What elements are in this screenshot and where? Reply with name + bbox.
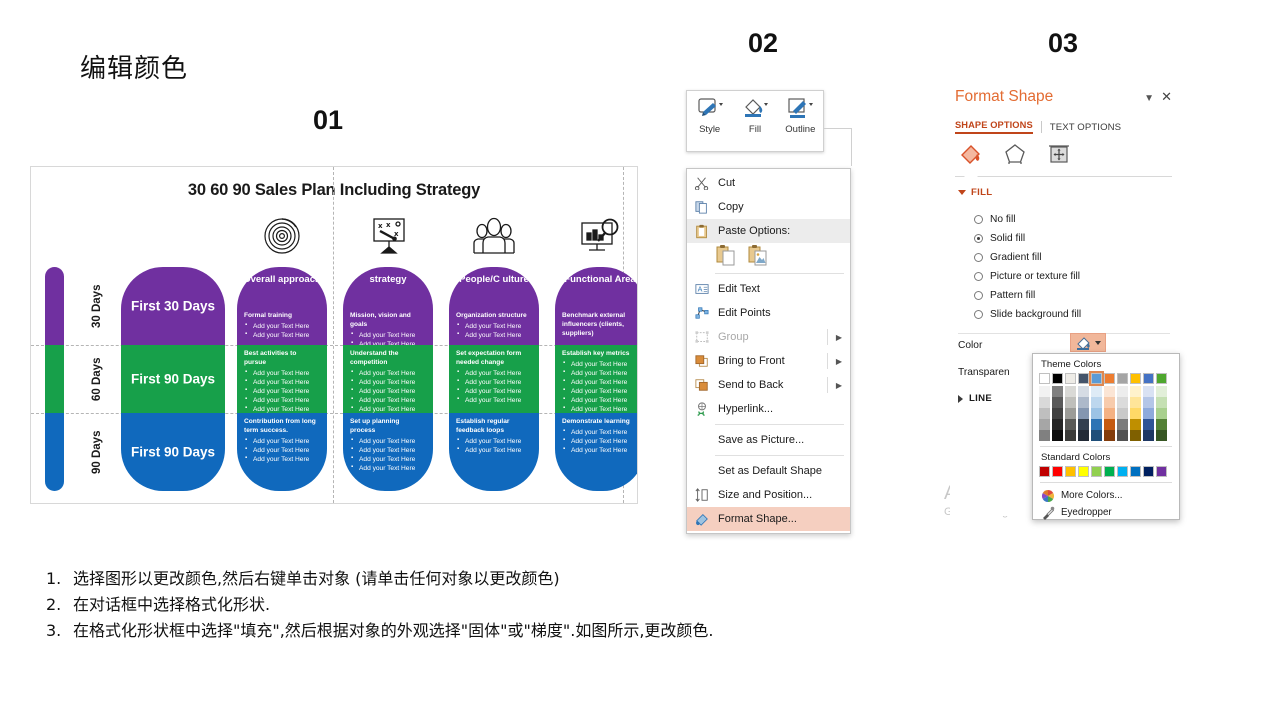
theme-color-shade-swatch[interactable] [1091, 419, 1102, 430]
radio-solid-fill[interactable] [974, 234, 983, 243]
column-4-row-90-list: Add your Text Here Add your Text Here Ad… [555, 428, 638, 455]
triangle-down-icon [958, 190, 966, 195]
theme-color-shade-swatch[interactable] [1156, 408, 1167, 419]
theme-color-shade-swatch[interactable] [1143, 386, 1154, 397]
list-item: Add your Text Here [253, 322, 321, 331]
edit-points-icon [691, 304, 713, 322]
hero-label-60: First 90 Days [121, 372, 225, 387]
theme-color-swatch[interactable] [1052, 373, 1063, 384]
context-menu-item-format-shape[interactable]: Format Shape... [687, 507, 850, 531]
list-item: Add your Text Here [253, 437, 321, 446]
theme-color-shade-swatch[interactable] [1104, 408, 1115, 419]
column-4-segment-60[interactable]: Establish key metrics Add your Text Here… [555, 345, 638, 413]
more-colors-label: More Colors... [1061, 490, 1123, 501]
list-item: Add your Text Here [465, 322, 533, 331]
column-1-row-30-head: Formal training [237, 307, 327, 322]
theme-color-column [1091, 373, 1102, 441]
timeline-bar-90 [45, 413, 64, 491]
theme-color-shade-swatch[interactable] [1039, 419, 1050, 430]
column-2-heading: strategy [343, 274, 433, 287]
context-menu-label: Copy [713, 201, 844, 213]
infographic-column-hero: First 30 Days First 90 Days First 90 Day… [121, 167, 225, 503]
list-item: Add your Text Here [465, 446, 533, 455]
strategy-board-icon: xxx [362, 213, 414, 259]
standard-color-swatch[interactable] [1156, 466, 1167, 477]
theme-color-shade-swatch[interactable] [1143, 408, 1154, 419]
theme-color-shade-swatch[interactable] [1052, 408, 1063, 419]
scissors-icon [691, 174, 713, 192]
list-item: Add your Text Here [253, 446, 321, 455]
column-2-row-30-head: Mission, vision and goals [343, 307, 433, 331]
theme-color-shade-swatch[interactable] [1117, 397, 1128, 408]
theme-color-shade-swatch[interactable] [1078, 430, 1089, 441]
tab-divider [1041, 121, 1042, 133]
column-2-segment-30[interactable]: strategy Mission, vision and goals Add y… [343, 267, 433, 345]
standard-colors-header: Standard Colors [1039, 451, 1173, 466]
context-menu-item-save-as-picture[interactable]: Save as Picture... [687, 428, 850, 452]
submenu-arrow-icon: ▶ [836, 381, 844, 390]
style-label: Style [699, 124, 720, 135]
theme-color-shade-swatch[interactable] [1117, 386, 1128, 397]
standard-color-swatch[interactable] [1091, 466, 1102, 477]
hero-label-90: First 90 Days [121, 445, 225, 460]
column-1-segment-90[interactable]: Contribution from long term success. Add… [237, 413, 327, 491]
theme-color-shade-swatch[interactable] [1130, 419, 1141, 430]
instruction-index: 1. [46, 566, 64, 592]
tab-text-options[interactable]: TEXT OPTIONS [1050, 122, 1121, 133]
list-item: Add your Text Here [571, 396, 638, 405]
paste-picture-icon[interactable] [747, 244, 769, 266]
context-menu-item-size-and-position[interactable]: Size and Position... [687, 483, 850, 507]
outline-label: Outline [785, 124, 815, 135]
list-item: Add your Text Here [253, 331, 321, 340]
eyedropper-option[interactable]: Eyedropper [1039, 504, 1173, 521]
shape-style-icon [695, 96, 725, 122]
color-picker-button[interactable] [1070, 333, 1106, 352]
theme-color-swatch[interactable] [1104, 373, 1115, 384]
theme-color-shade-swatch[interactable] [1143, 430, 1154, 441]
theme-color-shade-swatch[interactable] [1117, 430, 1128, 441]
list-item: Add your Text Here [571, 360, 638, 369]
day-label-90: 90 Days [77, 413, 117, 491]
day-label-30: 30 Days [77, 267, 117, 345]
shape-context-menu: Cut Copy Paste Options: [686, 168, 851, 534]
column-2-row-60-head: Understand the competition [343, 345, 433, 369]
radio-no-fill[interactable] [974, 215, 983, 224]
theme-color-shade-swatch[interactable] [1091, 408, 1102, 419]
edit-text-icon: A [691, 280, 713, 298]
clipboard-icon [691, 222, 713, 240]
fill-option-no-fill[interactable]: No fill [974, 210, 1174, 229]
guide-dash-vertical-1 [333, 167, 334, 503]
infographic-column-4: Functional Area Benchmark external influ… [555, 167, 638, 503]
triangle-right-icon [958, 395, 963, 403]
line-section-header[interactable]: LINE [958, 393, 992, 404]
column-4-row-90-head: Demonstrate learning [555, 413, 638, 428]
pencil-outline-icon [785, 96, 815, 122]
theme-color-swatch[interactable] [1117, 373, 1128, 384]
hero-segment-90[interactable]: First 90 Days [121, 413, 225, 491]
theme-color-shade-swatch[interactable] [1156, 397, 1167, 408]
context-menu-label: Cut [713, 177, 844, 189]
theme-color-shade-swatch[interactable] [1156, 419, 1167, 430]
list-item: Add your Text Here [359, 396, 427, 405]
column-2-row-90-head: Set up planning process [343, 413, 433, 437]
column-1-heading: Overall approach [237, 274, 327, 287]
fill-option-slide-background-fill[interactable]: Slide background fill [974, 305, 1174, 324]
list-item: Add your Text Here [571, 387, 638, 396]
list-item: Add your Text Here [359, 331, 427, 340]
context-menu-item-group: Group ▶ [687, 325, 850, 349]
list-item: Add your Text Here [359, 378, 427, 387]
context-menu-separator-2 [715, 424, 844, 425]
theme-colors-grid [1039, 373, 1173, 441]
theme-color-shade-swatch[interactable] [1039, 397, 1050, 408]
list-item: Add your Text Here [253, 378, 321, 387]
format-shape-tabs: SHAPE OPTIONS TEXT OPTIONS [955, 120, 1121, 134]
theme-color-shade-swatch[interactable] [1130, 430, 1141, 441]
theme-color-shade-swatch[interactable] [1091, 397, 1102, 408]
theme-color-shade-swatch[interactable] [1065, 386, 1076, 397]
theme-color-swatch[interactable] [1078, 373, 1089, 384]
column-3-row-60-list: Add your Text Here Add your Text Here Ad… [449, 369, 539, 405]
pane-rule [955, 176, 1172, 177]
theme-color-shade-swatch[interactable] [1065, 430, 1076, 441]
transparency-label: Transparen [958, 367, 1010, 378]
theme-color-shade-swatch[interactable] [1104, 397, 1115, 408]
theme-color-column [1039, 373, 1050, 441]
style-button[interactable]: Style [687, 96, 732, 135]
column-1-row-90-head: Contribution from long term success. [237, 413, 327, 437]
theme-color-shade-swatch[interactable] [1078, 386, 1089, 397]
color-row: Color [958, 340, 1172, 351]
hero-segment-30[interactable]: First 30 Days [121, 267, 225, 345]
picker-divider-1 [1040, 446, 1172, 447]
radio-slide-background-fill[interactable] [974, 310, 983, 319]
context-menu-item-edit-text[interactable]: A Edit Text [687, 277, 850, 301]
effects-pentagon-icon[interactable] [1002, 142, 1028, 166]
theme-color-shade-swatch[interactable] [1130, 408, 1141, 419]
step-marker-02: 02 [748, 28, 778, 59]
theme-color-shade-swatch[interactable] [1039, 408, 1050, 419]
infographic-column-3: People/C ulture Organization structure A… [449, 167, 539, 503]
context-menu-item-cut[interactable]: Cut [687, 171, 850, 195]
fill-label: Fill [749, 124, 761, 135]
toolbar-connector-horizontal [824, 128, 852, 129]
column-3-row-90-head: Establish regular feedback loops [449, 413, 539, 437]
theme-color-shade-swatch[interactable] [1143, 419, 1154, 430]
fill-section-label: FILL [971, 187, 992, 198]
column-3-segment-60[interactable]: Set expectation form needed change Add y… [449, 345, 539, 413]
theme-color-swatch[interactable] [1156, 373, 1167, 384]
day-label-60: 60 Days [77, 345, 117, 413]
bring-to-front-icon [691, 352, 713, 370]
context-menu-label: Edit Points [713, 307, 844, 319]
fill-option-gradient-fill[interactable]: Gradient fill [974, 248, 1174, 267]
fill-option-label: Pattern fill [990, 290, 1035, 301]
theme-color-shade-swatch[interactable] [1130, 386, 1141, 397]
size-position-icon [691, 486, 713, 504]
send-to-back-icon [691, 376, 713, 394]
theme-color-shade-swatch[interactable] [1091, 430, 1102, 441]
instruction-text: 在对话框中选择格式化形状. [73, 592, 270, 618]
paint-bucket-icon [1076, 336, 1092, 350]
format-shape-title: Format Shape [955, 88, 1053, 106]
context-menu-item-copy[interactable]: Copy [687, 195, 850, 219]
color-picker-dropdown: Theme Colors Standard Colors More Colors… [1032, 353, 1180, 520]
fill-option-pattern-fill[interactable]: Pattern fill [974, 286, 1174, 305]
people-group-icon [468, 213, 520, 259]
paste-keep-formatting-icon[interactable] [715, 244, 737, 266]
theme-color-shade-swatch[interactable] [1117, 419, 1128, 430]
context-menu-label: Bring to Front [713, 355, 836, 367]
close-icon[interactable]: ✕ [1161, 89, 1172, 105]
context-menu-label: Set as Default Shape [713, 465, 844, 477]
infographic-column-1: Overall approach Formal training Add you… [237, 167, 327, 503]
theme-color-swatch[interactable] [1065, 373, 1076, 384]
copy-icon [691, 198, 713, 216]
column-3-row-90-list: Add your Text Here Add your Text Here [449, 437, 539, 455]
theme-color-shade-swatch[interactable] [1065, 408, 1076, 419]
theme-color-shade-swatch[interactable] [1130, 397, 1141, 408]
theme-color-shade-swatch[interactable] [1091, 386, 1102, 397]
format-shape-icon-tabs [958, 142, 1072, 166]
hero-segment-60[interactable]: First 90 Days [121, 345, 225, 413]
context-menu-label: Send to Back [713, 379, 836, 391]
column-2-row-60-list: Add your Text Here Add your Text Here Ad… [343, 369, 433, 414]
hero-label-30: First 30 Days [121, 299, 225, 314]
column-4-row-60-list: Add your Text Here Add your Text Here Ad… [555, 360, 638, 414]
theme-color-shade-swatch[interactable] [1065, 397, 1076, 408]
hyperlink-icon [691, 400, 713, 418]
theme-color-shade-swatch[interactable] [1104, 386, 1115, 397]
theme-color-swatch[interactable] [1143, 373, 1154, 384]
theme-color-column [1143, 373, 1154, 441]
size-properties-icon[interactable] [1046, 142, 1072, 166]
list-item: Add your Text Here [359, 464, 427, 473]
column-4-segment-30[interactable]: Functional Area Benchmark external influ… [555, 267, 638, 345]
context-menu-label: Size and Position... [713, 489, 844, 501]
theme-color-shade-swatch[interactable] [1039, 430, 1050, 441]
standard-color-swatch[interactable] [1039, 466, 1050, 477]
picker-divider-2 [1040, 482, 1172, 483]
instruction-row: 1. 选择图形以更改颜色,然后右键单击对象 (请单击任何对象以更改颜色) [46, 566, 1246, 592]
list-item: Add your Text Here [465, 387, 533, 396]
fill-options-group: No fill Solid fill Gradient fill Picture… [974, 210, 1174, 324]
svg-text:x: x [378, 222, 383, 230]
theme-colors-header: Theme Colors [1039, 358, 1173, 373]
theme-color-shade-swatch[interactable] [1143, 397, 1154, 408]
list-item: Add your Text Here [359, 437, 427, 446]
column-4-row-60-head: Establish key metrics [555, 345, 638, 360]
more-colors-option[interactable]: More Colors... [1039, 487, 1173, 504]
theme-color-shade-swatch[interactable] [1078, 397, 1089, 408]
color-label: Color [958, 340, 982, 351]
infographic-column-2: xxx strategy Mission, vision and goals A… [343, 167, 433, 503]
list-item: Add your Text Here [359, 455, 427, 464]
theme-color-column [1117, 373, 1128, 441]
context-menu-separator-3 [715, 455, 844, 456]
toolbar-connector-vertical [851, 128, 852, 166]
theme-color-shade-swatch[interactable] [1052, 419, 1063, 430]
standard-color-swatch[interactable] [1130, 466, 1141, 477]
column-4-segment-90[interactable]: Demonstrate learning Add your Text Here … [555, 413, 638, 491]
target-radar-icon [256, 213, 308, 259]
column-3-row-60-head: Set expectation form needed change [449, 345, 539, 369]
eyedropper-icon [1041, 506, 1055, 520]
column-4-heading: Functional Area [555, 274, 638, 287]
list-item: Add your Text Here [571, 378, 638, 387]
list-item: Add your Text Here [359, 369, 427, 378]
theme-color-column [1156, 373, 1167, 441]
theme-color-column [1078, 373, 1089, 441]
theme-color-shade-swatch[interactable] [1052, 397, 1063, 408]
instruction-index: 2. [46, 592, 64, 618]
list-item: Add your Text Here [571, 369, 638, 378]
radio-pattern-fill[interactable] [974, 291, 983, 300]
list-item: Add your Text Here [465, 437, 533, 446]
theme-color-swatch[interactable] [1091, 373, 1102, 384]
column-3-row-30-head: Organization structure [449, 307, 539, 322]
eyedropper-label: Eyedropper [1061, 507, 1112, 518]
step-marker-03: 03 [1048, 28, 1078, 59]
theme-color-shade-swatch[interactable] [1078, 408, 1089, 419]
fill-option-label: Gradient fill [990, 252, 1042, 263]
outline-button[interactable]: Outline [778, 96, 823, 135]
context-menu-separator-1 [715, 273, 844, 274]
instruction-text: 选择图形以更改颜色,然后右键单击对象 (请单击任何对象以更改颜色) [73, 566, 560, 592]
context-menu-item-paste-options[interactable]: Paste Options: [687, 219, 850, 243]
list-item: Add your Text Here [253, 369, 321, 378]
chevron-down-icon[interactable] [1095, 341, 1101, 345]
theme-color-shade-swatch[interactable] [1052, 386, 1063, 397]
tab-shape-options[interactable]: SHAPE OPTIONS [955, 120, 1033, 134]
theme-color-shade-swatch[interactable] [1052, 430, 1063, 441]
monitor-analytics-icon [574, 213, 626, 259]
theme-color-shade-swatch[interactable] [1156, 430, 1167, 441]
list-item: Add your Text Here [465, 396, 533, 405]
context-menu-label: Edit Text [713, 283, 844, 295]
theme-color-shade-swatch[interactable] [1078, 419, 1089, 430]
svg-text:A: A [698, 286, 703, 294]
context-menu-item-set-as-default-shape[interactable]: Set as Default Shape [687, 459, 850, 483]
column-1-segment-30[interactable]: Overall approach Formal training Add you… [237, 267, 327, 345]
theme-color-shade-swatch[interactable] [1104, 430, 1115, 441]
standard-color-swatch[interactable] [1117, 466, 1128, 477]
fill-option-picture-or-texture-fill[interactable]: Picture or texture fill [974, 267, 1174, 286]
standard-color-swatch[interactable] [1052, 466, 1063, 477]
context-menu-item-send-to-back[interactable]: Send to Back ▶ [687, 373, 850, 397]
list-item: Add your Text Here [571, 446, 638, 455]
svg-text:x: x [394, 230, 399, 238]
line-section-label: LINE [969, 393, 992, 404]
fill-option-solid-fill[interactable]: Solid fill [974, 229, 1174, 248]
fill-option-label: Picture or texture fill [990, 271, 1080, 282]
chevron-down-icon[interactable]: ▼ [1144, 93, 1154, 104]
list-item: Add your Text Here [465, 378, 533, 387]
column-3-segment-30[interactable]: People/C ulture Organization structure A… [449, 267, 539, 345]
format-shape-icon [691, 510, 713, 528]
list-item: Add your Text Here [465, 331, 533, 340]
standard-color-swatch[interactable] [1104, 466, 1115, 477]
column-1-row-30-list: Add your Text Here Add your Text Here [237, 322, 327, 340]
theme-color-column [1130, 373, 1141, 441]
standard-colors-grid [1039, 466, 1173, 477]
instruction-text: 在格式化形状框中选择"填充",然后根据对象的外观选择"固体"或"梯度".如图所示… [73, 618, 714, 644]
list-item: Add your Text Here [465, 369, 533, 378]
theme-color-shade-swatch[interactable] [1065, 419, 1076, 430]
timeline-bar-60 [45, 345, 64, 413]
column-1-segment-60[interactable]: Best activities to pursue Add your Text … [237, 345, 327, 413]
submenu-arrow-icon: ▶ [836, 357, 844, 366]
context-menu-label: Group [713, 331, 836, 343]
fill-section-header[interactable]: FILL [958, 187, 992, 198]
theme-color-shade-swatch[interactable] [1117, 408, 1128, 419]
column-3-heading: People/C ulture [449, 274, 539, 287]
list-item: Add your Text Here [253, 396, 321, 405]
instructions-list: 1. 选择图形以更改颜色,然后右键单击对象 (请单击任何对象以更改颜色) 2. … [46, 566, 1246, 644]
standard-color-swatch[interactable] [1143, 466, 1154, 477]
theme-color-shade-swatch[interactable] [1039, 386, 1050, 397]
column-1-row-60-list: Add your Text Here Add your Text Here Ad… [237, 369, 327, 414]
theme-color-column [1065, 373, 1076, 441]
paste-options-row [687, 243, 850, 270]
context-menu-item-edit-points[interactable]: Edit Points [687, 301, 850, 325]
context-menu-item-hyperlink[interactable]: Hyperlink... [687, 397, 850, 421]
standard-color-swatch[interactable] [1065, 466, 1076, 477]
radio-picture-fill[interactable] [974, 272, 983, 281]
page-title: 编辑颜色 [80, 48, 188, 85]
column-2-row-90-list: Add your Text Here Add your Text Here Ad… [343, 437, 433, 473]
context-menu-label: Hyperlink... [713, 403, 844, 415]
column-2-segment-90[interactable]: Set up planning process Add your Text He… [343, 413, 433, 491]
list-item: Add your Text Here [571, 428, 638, 437]
fill-button[interactable]: Fill [732, 96, 777, 135]
list-item: Add your Text Here [253, 387, 321, 396]
color-wheel-icon [1041, 489, 1055, 503]
step-marker-01: 01 [313, 105, 343, 136]
list-item: Add your Text Here [359, 387, 427, 396]
instruction-index: 3. [46, 618, 64, 644]
list-item: Add your Text Here [253, 455, 321, 464]
timeline-bar-30 [45, 267, 64, 345]
column-1-row-60-head: Best activities to pursue [237, 345, 327, 369]
column-1-row-90-list: Add your Text Here Add your Text Here Ad… [237, 437, 327, 464]
fill-option-label: Solid fill [990, 233, 1025, 244]
radio-gradient-fill[interactable] [974, 253, 983, 262]
column-3-segment-90[interactable]: Establish regular feedback loops Add you… [449, 413, 539, 491]
list-item: Add your Text Here [359, 446, 427, 455]
theme-color-swatch[interactable] [1130, 373, 1141, 384]
fill-option-label: No fill [990, 214, 1015, 225]
theme-color-swatch[interactable] [1039, 373, 1050, 384]
fill-option-label: Slide background fill [990, 309, 1081, 320]
sales-plan-infographic: 30 60 90 Sales Plan Including Strategy 3… [30, 166, 638, 504]
mini-toolbar: Style Fill Outline [686, 90, 824, 152]
theme-color-shade-swatch[interactable] [1104, 419, 1115, 430]
context-menu-label: Paste Options: [713, 225, 844, 237]
column-2-segment-60[interactable]: Understand the competition Add your Text… [343, 345, 433, 413]
context-menu-label: Save as Picture... [713, 434, 844, 446]
column-3-row-30-list: Add your Text Here Add your Text Here [449, 322, 539, 340]
instruction-row: 3. 在格式化形状框中选择"填充",然后根据对象的外观选择"固体"或"梯度".如… [46, 618, 1246, 644]
fill-and-line-icon[interactable] [958, 142, 984, 166]
instruction-row: 2. 在对话框中选择格式化形状. [46, 592, 1246, 618]
context-menu-item-bring-to-front[interactable]: Bring to Front ▶ [687, 349, 850, 373]
standard-color-swatch[interactable] [1078, 466, 1089, 477]
paint-bucket-icon [740, 96, 770, 122]
theme-color-shade-swatch[interactable] [1156, 386, 1167, 397]
